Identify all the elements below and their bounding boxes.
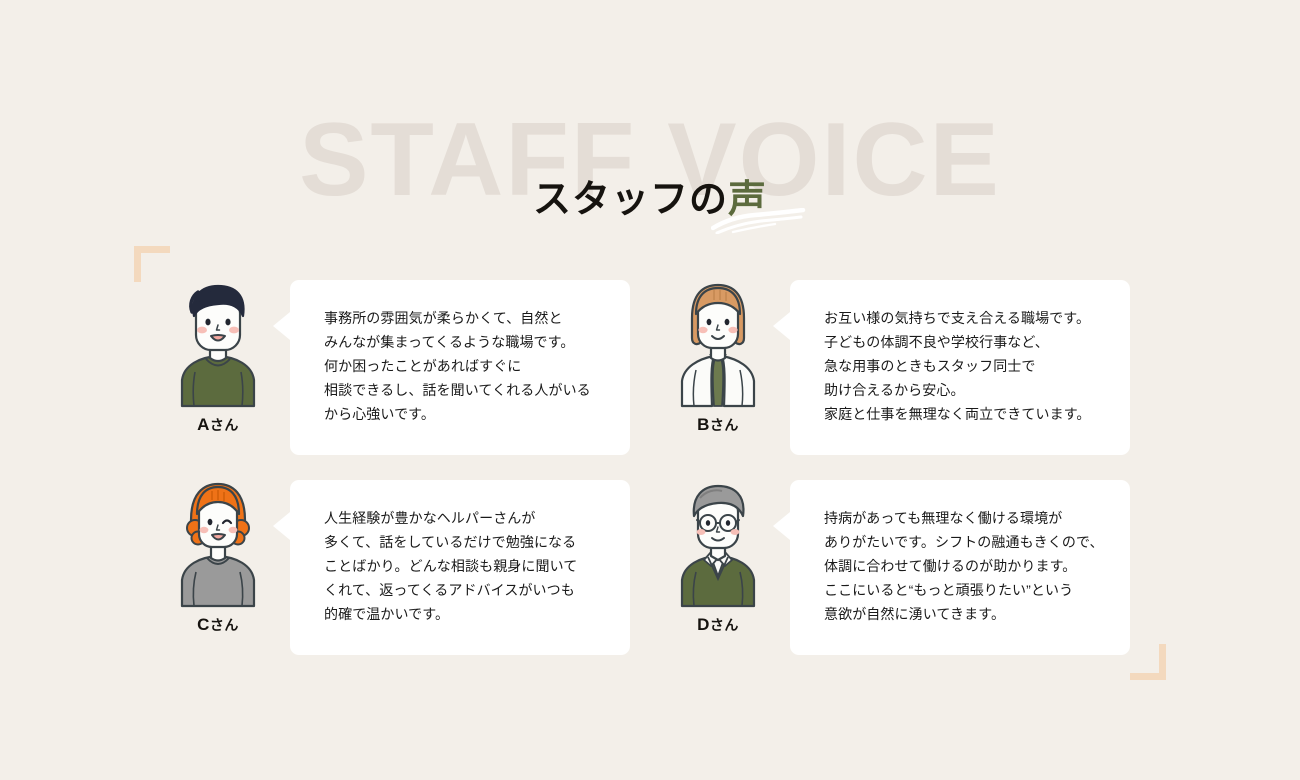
- bubble-line: 意欲が自然に湧いてきます。: [824, 602, 1130, 626]
- bubble-line: 助け合えるから安心。: [824, 378, 1130, 402]
- testimonial-bubble-c: 人生経験が豊かなヘルパーさんが 多くて、話をしているだけで勉強になる ことばかり…: [290, 480, 630, 655]
- bubble-line: 何か困ったことがあればすぐに: [324, 354, 630, 378]
- person-d-name: Dさん: [670, 615, 766, 635]
- bubble-line: ことばかり。どんな相談も親身に聞いて: [324, 554, 630, 578]
- person-a-initial: A: [197, 415, 210, 434]
- person-a: Aさん: [170, 280, 266, 435]
- person-b-avatar: [670, 280, 766, 410]
- person-a-suffix: さん: [210, 417, 239, 433]
- staff-voice-section: STAFF VOICE スタッフの声: [0, 0, 1300, 780]
- person-b-name: Bさん: [670, 415, 766, 435]
- person-b-initial: B: [697, 415, 710, 434]
- person-c-name: Cさん: [170, 615, 266, 635]
- testimonial-card-a: Aさん 事務所の雰囲気が柔らかくて、自然と みんなが集まってくるような職場です。…: [170, 280, 510, 455]
- person-d-avatar: [670, 480, 766, 610]
- person-a-name: Aさん: [170, 415, 266, 435]
- bubble-line: くれて、返ってくるアドバイスがいつも: [324, 578, 630, 602]
- person-c-initial: C: [197, 615, 210, 634]
- testimonial-bubble-b: お互い様の気持ちで支え合える職場です。 子どもの体調不良や学校行事など、 急な用…: [790, 280, 1130, 455]
- testimonial-card-c: Cさん 人生経験が豊かなヘルパーさんが 多くて、話をしているだけで勉強になる こ…: [170, 480, 510, 655]
- bubble-line: 相談できるし、話を聞いてくれる人がいる: [324, 378, 630, 402]
- testimonial-bubble-d: 持病があっても無理なく働ける環境が ありがたいです。シフトの融通もきくので、 体…: [790, 480, 1130, 655]
- bubble-line: ここにいると“もっと頑張りたい”という: [824, 578, 1130, 602]
- testimonial-card-d: Dさん 持病があっても無理なく働ける環境が ありがたいです。シフトの融通もきくの…: [670, 480, 1010, 655]
- bubble-line: 家庭と仕事を無理なく両立できています。: [824, 402, 1130, 426]
- testimonial-grid: Aさん 事務所の雰囲気が柔らかくて、自然と みんなが集まってくるような職場です。…: [0, 0, 1300, 780]
- testimonial-bubble-a: 事務所の雰囲気が柔らかくて、自然と みんなが集まってくるような職場です。 何か困…: [290, 280, 630, 455]
- person-c-avatar: [170, 480, 266, 610]
- bubble-line: 急な用事のときもスタッフ同士で: [824, 354, 1130, 378]
- testimonial-card-b: Bさん お互い様の気持ちで支え合える職場です。 子どもの体調不良や学校行事など、…: [670, 280, 1010, 455]
- person-c: Cさん: [170, 480, 266, 635]
- person-b: Bさん: [670, 280, 766, 435]
- bubble-line: ありがたいです。シフトの融通もきくので、: [824, 530, 1130, 554]
- bubble-line: 的確で温かいです。: [324, 602, 630, 626]
- person-d-initial: D: [697, 615, 710, 634]
- bubble-line: から心強いです。: [324, 402, 630, 426]
- bubble-line: お互い様の気持ちで支え合える職場です。: [824, 306, 1130, 330]
- bubble-line: 体調に合わせて働けるのが助かります。: [824, 554, 1130, 578]
- bubble-line: 事務所の雰囲気が柔らかくて、自然と: [324, 306, 630, 330]
- person-a-avatar: [170, 280, 266, 410]
- person-d: Dさん: [670, 480, 766, 635]
- bubble-line: 持病があっても無理なく働ける環境が: [824, 506, 1130, 530]
- person-b-suffix: さん: [710, 417, 739, 433]
- bubble-line: 人生経験が豊かなヘルパーさんが: [324, 506, 630, 530]
- bubble-line: みんなが集まってくるような職場です。: [324, 330, 630, 354]
- person-d-suffix: さん: [710, 617, 739, 633]
- bubble-line: 子どもの体調不良や学校行事など、: [824, 330, 1130, 354]
- bubble-line: 多くて、話をしているだけで勉強になる: [324, 530, 630, 554]
- person-c-suffix: さん: [210, 617, 239, 633]
